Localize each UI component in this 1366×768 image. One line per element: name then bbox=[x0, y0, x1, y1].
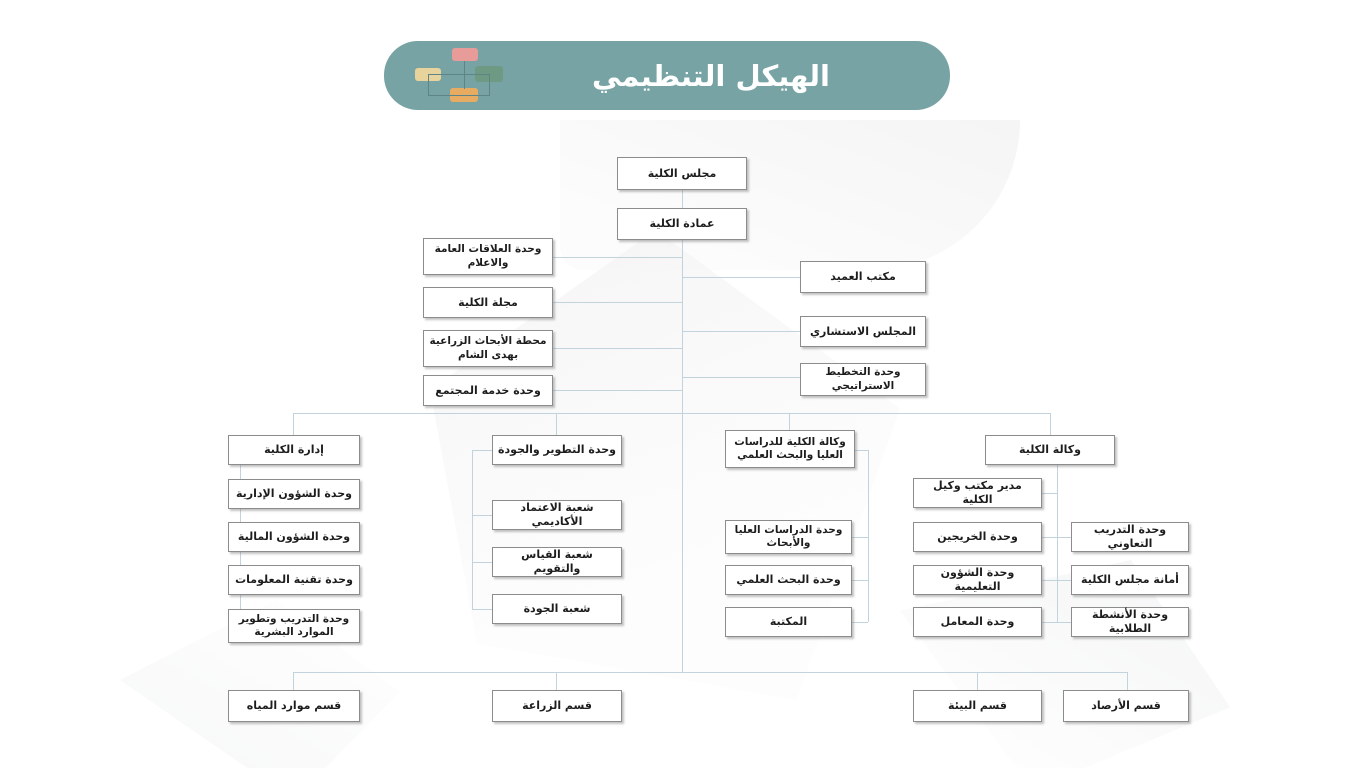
connector-line bbox=[855, 450, 868, 451]
connector-line bbox=[293, 672, 294, 690]
connector-line bbox=[852, 537, 868, 538]
node-strategic-planning-unit[interactable]: وحدة التخطيط الاستراتيجي bbox=[800, 363, 926, 396]
page-title: الهيكل التنظيمي bbox=[508, 59, 914, 93]
connector-line bbox=[553, 348, 682, 349]
connector-line bbox=[553, 257, 682, 258]
connector-line bbox=[1042, 580, 1057, 581]
node-vice-dean-office-manager[interactable]: مدير مكتب وكيل الكلية bbox=[913, 478, 1042, 508]
connector-line bbox=[682, 277, 800, 278]
connector-line bbox=[472, 562, 492, 563]
node-library[interactable]: المكتبة bbox=[725, 607, 852, 637]
organizational-chart-slide: الهيكل التنظيمي bbox=[0, 0, 1366, 768]
org-chart-icon-line bbox=[428, 74, 429, 96]
org-chart-icon-top-node bbox=[452, 48, 478, 61]
node-dean-office[interactable]: مكتب العميد bbox=[800, 261, 926, 293]
node-agricultural-research-station[interactable]: محطة الأبحاث الزراعية بهدى الشام bbox=[423, 330, 553, 367]
node-advisory-council[interactable]: المجلس الاستشاري bbox=[800, 316, 926, 347]
node-administrative-affairs-unit[interactable]: وحدة الشؤون الإدارية bbox=[228, 479, 360, 509]
connector-line bbox=[682, 413, 683, 672]
connector-line bbox=[977, 672, 978, 690]
node-training-hr-development-unit[interactable]: وحدة التدريب وتطوير الموارد البشرية bbox=[228, 609, 360, 643]
org-chart-icon-line bbox=[464, 61, 465, 89]
node-academic-accreditation-division[interactable]: شعبة الاعتماد الأكاديمي bbox=[492, 500, 622, 530]
org-chart-icon-line bbox=[428, 74, 490, 75]
background-watermark-shape bbox=[560, 120, 1020, 270]
connector-bus bbox=[293, 672, 1127, 673]
org-chart-icon bbox=[412, 46, 508, 106]
node-vice-deanship-graduate-studies[interactable]: وكالة الكلية للدراسات العليا والبحث العل… bbox=[725, 430, 855, 468]
connector-line bbox=[553, 390, 682, 391]
connector-line bbox=[868, 450, 869, 622]
connector-line bbox=[472, 450, 492, 451]
node-community-service-unit[interactable]: وحدة خدمة المجتمع bbox=[423, 375, 553, 406]
node-scientific-research-unit[interactable]: وحدة البحث العلمي bbox=[725, 565, 852, 595]
node-public-relations-unit[interactable]: وحدة العلاقات العامة والاعلام bbox=[423, 238, 553, 275]
node-vice-deanship[interactable]: وكالة الكلية bbox=[985, 435, 1115, 465]
node-quality-division[interactable]: شعبة الجودة bbox=[492, 594, 622, 624]
node-college-council-secretariat[interactable]: أمانة مجلس الكلية bbox=[1071, 565, 1189, 595]
connector-line bbox=[1050, 413, 1051, 436]
connector-line bbox=[1042, 493, 1057, 494]
node-college-administration[interactable]: إدارة الكلية bbox=[228, 435, 360, 465]
connector-line bbox=[1057, 537, 1071, 538]
title-banner: الهيكل التنظيمي bbox=[384, 41, 950, 110]
connector-line bbox=[1042, 622, 1057, 623]
node-environment-department[interactable]: قسم البيئة bbox=[913, 690, 1042, 722]
connector-line bbox=[1057, 622, 1071, 623]
connector-bus bbox=[293, 413, 1051, 414]
connector-line bbox=[472, 609, 492, 610]
org-chart-icon-line bbox=[428, 95, 490, 96]
connector-line bbox=[556, 413, 557, 436]
node-graduate-studies-research-unit[interactable]: وحدة الدراسات العليا والأبحاث bbox=[725, 520, 852, 554]
node-cooperative-training-unit[interactable]: وحدة التدريب التعاوني bbox=[1071, 522, 1189, 552]
connector-line bbox=[293, 413, 294, 436]
node-college-deanship[interactable]: عمادة الكلية bbox=[617, 208, 747, 240]
connector-line bbox=[472, 450, 473, 609]
node-financial-affairs-unit[interactable]: وحدة الشؤون المالية bbox=[228, 522, 360, 552]
node-water-resources-department[interactable]: قسم موارد المياه bbox=[228, 690, 360, 722]
node-development-quality-unit[interactable]: وحدة التطوير والجودة bbox=[492, 435, 622, 465]
connector-line bbox=[682, 240, 683, 413]
connector-line bbox=[556, 672, 557, 690]
node-college-magazine[interactable]: مجلة الكلية bbox=[423, 287, 553, 318]
org-chart-icon-line bbox=[489, 74, 490, 96]
node-meteorology-department[interactable]: قسم الأرصاد bbox=[1063, 690, 1189, 722]
node-measurement-evaluation-division[interactable]: شعبة القياس والتقويم bbox=[492, 547, 622, 577]
connector-line bbox=[472, 515, 492, 516]
node-graduates-unit[interactable]: وحدة الخريجين bbox=[913, 522, 1042, 552]
node-student-activities-unit[interactable]: وحدة الأنشطة الطلابية bbox=[1071, 607, 1189, 637]
node-agriculture-department[interactable]: قسم الزراعة bbox=[492, 690, 622, 722]
connector-line bbox=[1057, 450, 1058, 622]
node-educational-affairs-unit[interactable]: وحدة الشؤون التعليمية bbox=[913, 565, 1042, 595]
node-laboratories-unit[interactable]: وحدة المعامل bbox=[913, 607, 1042, 637]
connector-line bbox=[553, 302, 682, 303]
connector-line bbox=[1042, 537, 1057, 538]
connector-line bbox=[1057, 580, 1071, 581]
connector-line bbox=[852, 580, 868, 581]
node-information-technology-unit[interactable]: وحدة تقنية المعلومات bbox=[228, 565, 360, 595]
connector-line bbox=[1127, 672, 1128, 690]
connector-line bbox=[682, 377, 800, 378]
connector-line bbox=[682, 331, 800, 332]
node-college-council[interactable]: مجلس الكلية bbox=[617, 157, 747, 190]
connector-line bbox=[852, 622, 868, 623]
